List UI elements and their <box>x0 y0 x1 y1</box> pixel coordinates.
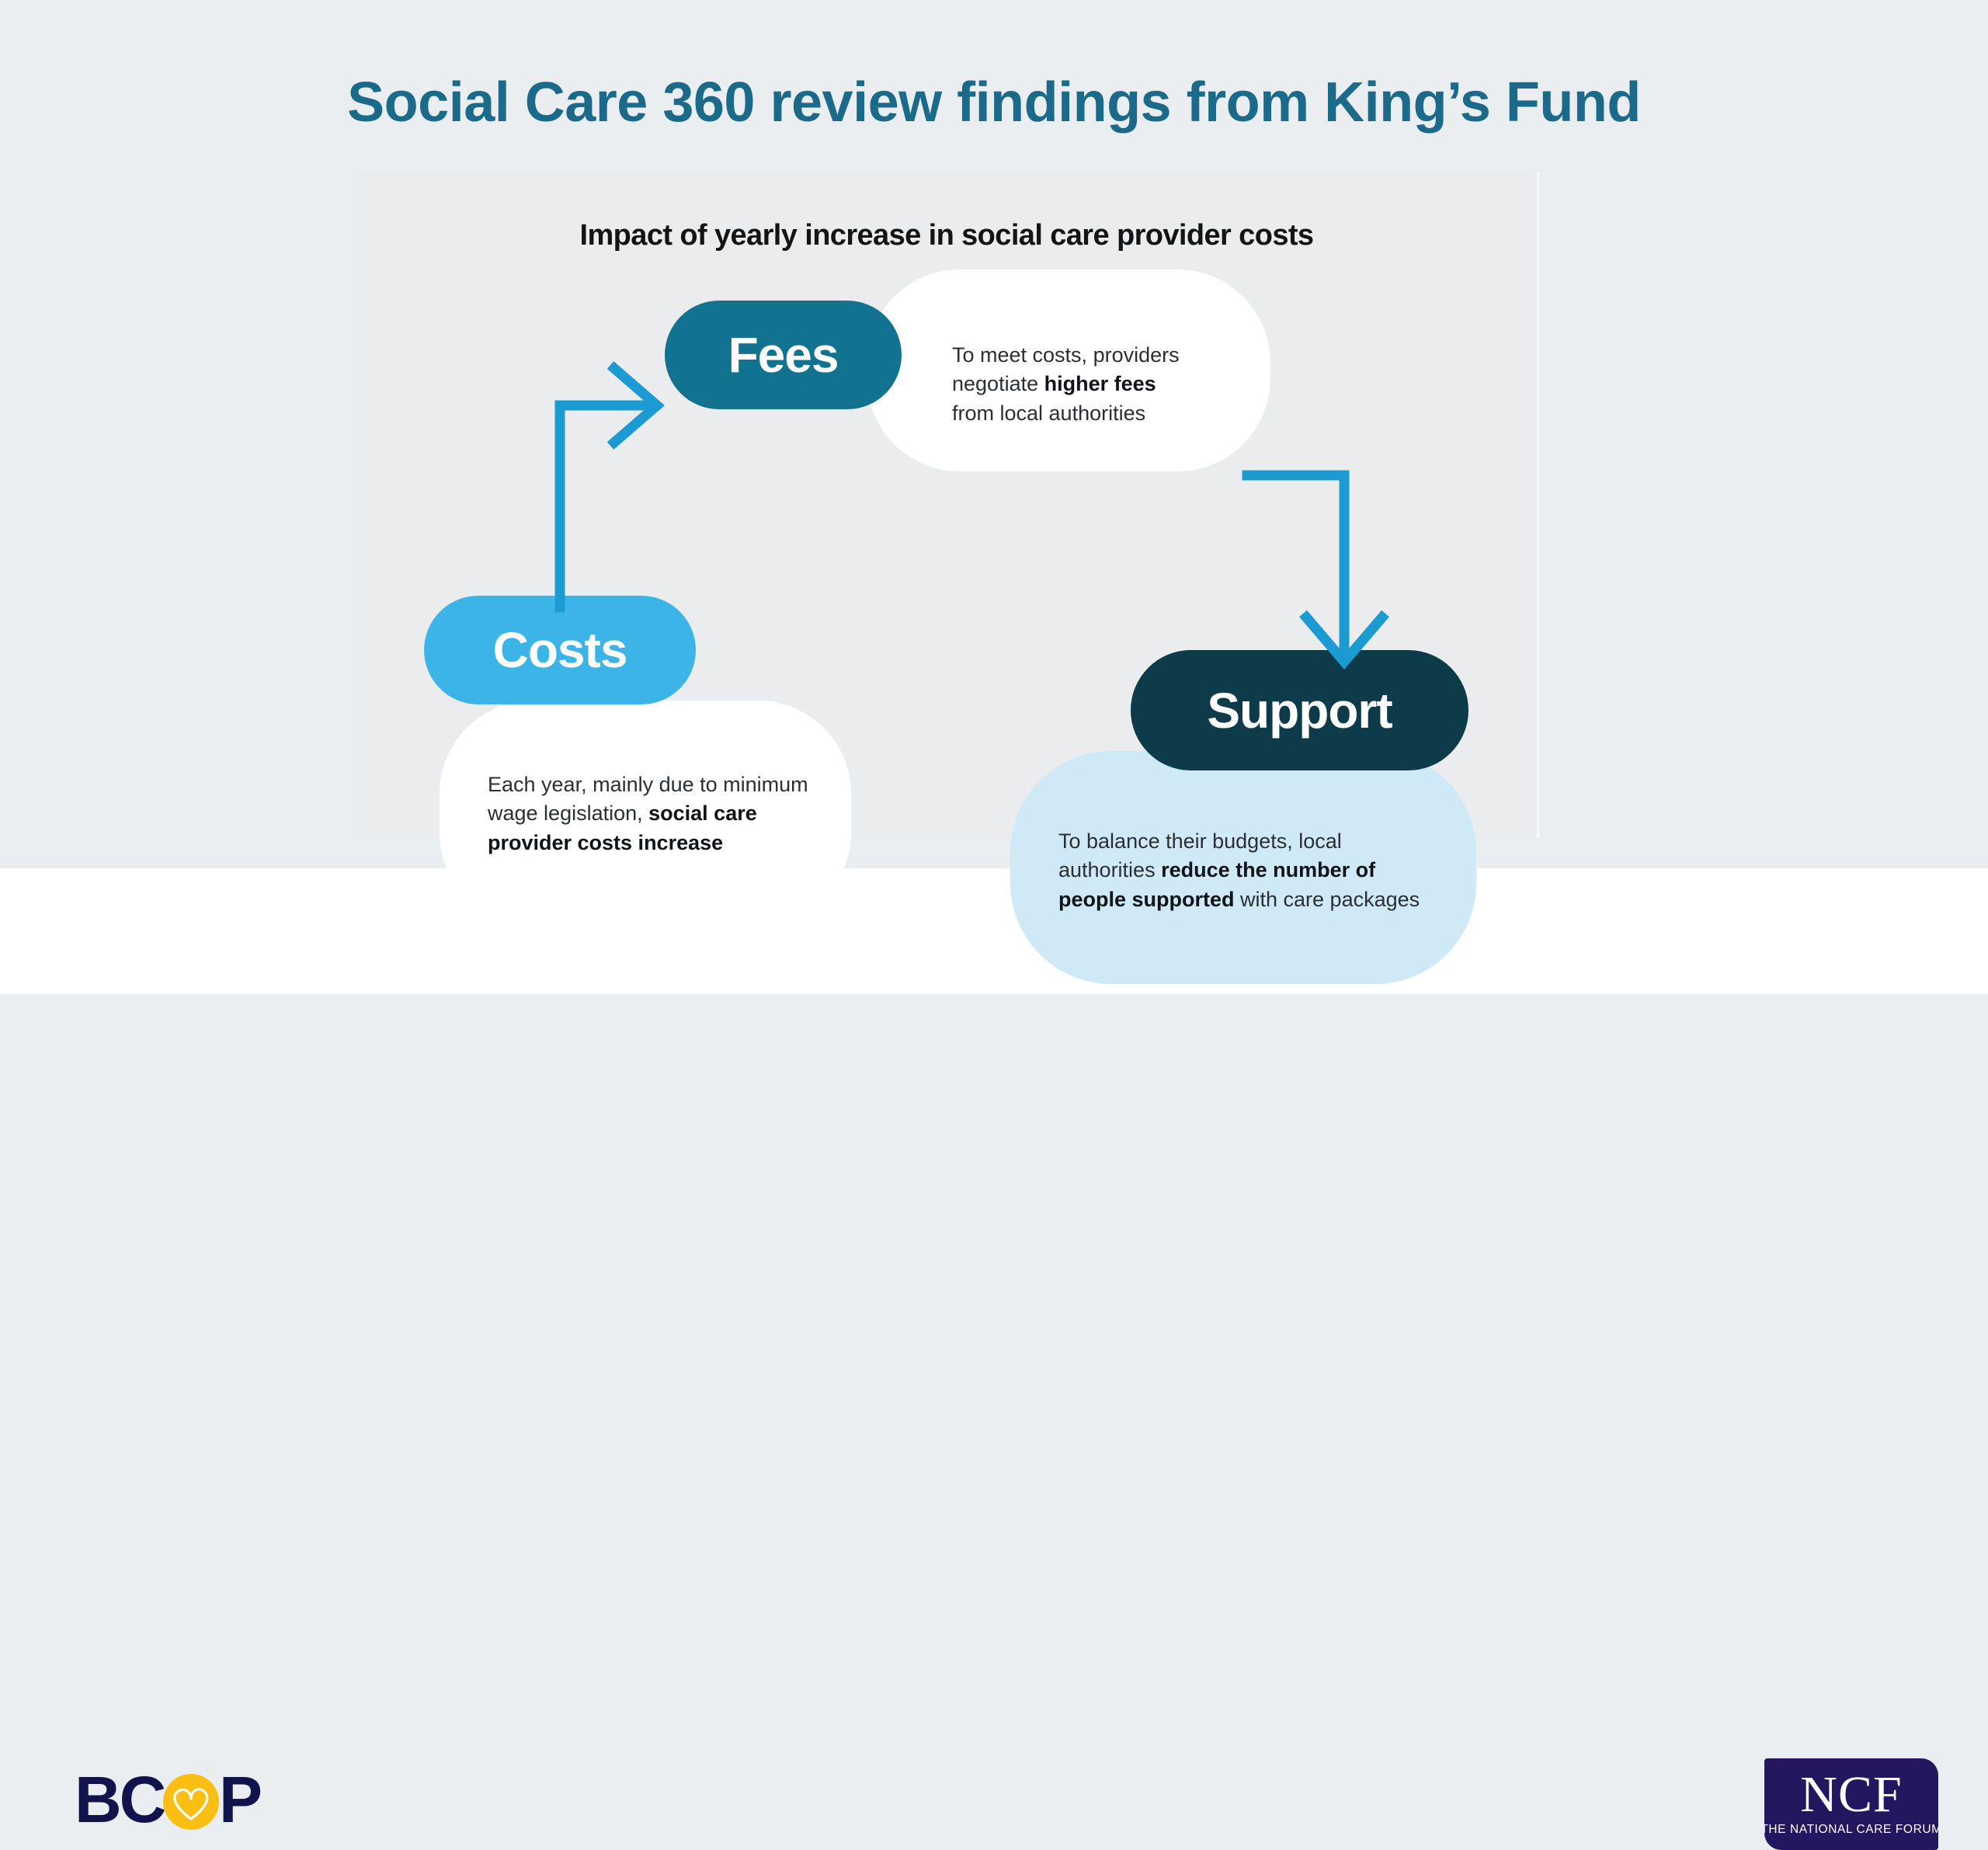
costs-callout-line2-plain: wage legislation, <box>488 802 648 825</box>
costs-callout-line2-bold: social care <box>648 802 757 825</box>
node-fees: Fees <box>665 301 902 409</box>
fees-callout: To meet costs, providers negotiate highe… <box>867 270 1270 471</box>
costs-callout-line1: Each year, mainly due to minimum <box>488 773 808 796</box>
ncf-logo: NCF THE NATIONAL CARE FORUM <box>1764 1758 1938 1850</box>
costs-to-fees-arrow <box>560 365 657 607</box>
support-callout-line1: To balance their budgets, local <box>1058 829 1342 853</box>
ncf-mark: NCF <box>1800 1768 1902 1819</box>
footer-band: BC P NCF THE NATIONAL CARE FORUM <box>0 868 1988 994</box>
infographic-panel: Impact of yearly increase in social care… <box>354 172 1539 837</box>
page-title: Social Care 360 review findings from Kin… <box>0 75 1988 130</box>
bcop-logo: BC P <box>75 1771 280 1831</box>
ncf-subtitle: THE NATIONAL CARE FORUM <box>1764 1820 1938 1840</box>
infographic-heading: Impact of yearly increase in social care… <box>354 219 1539 252</box>
node-fees-label: Fees <box>728 326 839 384</box>
support-callout-line3-plain: with care packages <box>1235 888 1420 911</box>
node-support-label: Support <box>1207 682 1392 739</box>
node-support: Support <box>1131 650 1468 770</box>
costs-callout-line3-bold: provider costs increase <box>488 831 723 854</box>
node-costs-label: Costs <box>493 621 627 679</box>
support-callout-line3-bold: people supported <box>1058 888 1235 911</box>
support-callout: To balance their budgets, local authorit… <box>1010 751 1476 984</box>
bcop-yellow-circle <box>163 1774 219 1830</box>
bcop-letters-after: P <box>219 1771 261 1831</box>
costs-callout: Each year, mainly due to minimum wage le… <box>440 701 851 926</box>
fees-callout-line2-plain: negotiate <box>952 372 1044 395</box>
fees-to-support-arrow <box>1247 475 1385 662</box>
support-callout-line2-bold: reduce the number of <box>1161 858 1375 882</box>
fees-callout-line2-bold: higher fees <box>1044 372 1156 395</box>
fees-callout-line3: from local authorities <box>952 402 1145 425</box>
node-costs: Costs <box>424 596 696 704</box>
bcop-letters-before: BC <box>75 1771 165 1831</box>
support-callout-line2-plain: authorities <box>1058 858 1161 882</box>
fees-callout-line1: To meet costs, providers <box>952 343 1180 367</box>
